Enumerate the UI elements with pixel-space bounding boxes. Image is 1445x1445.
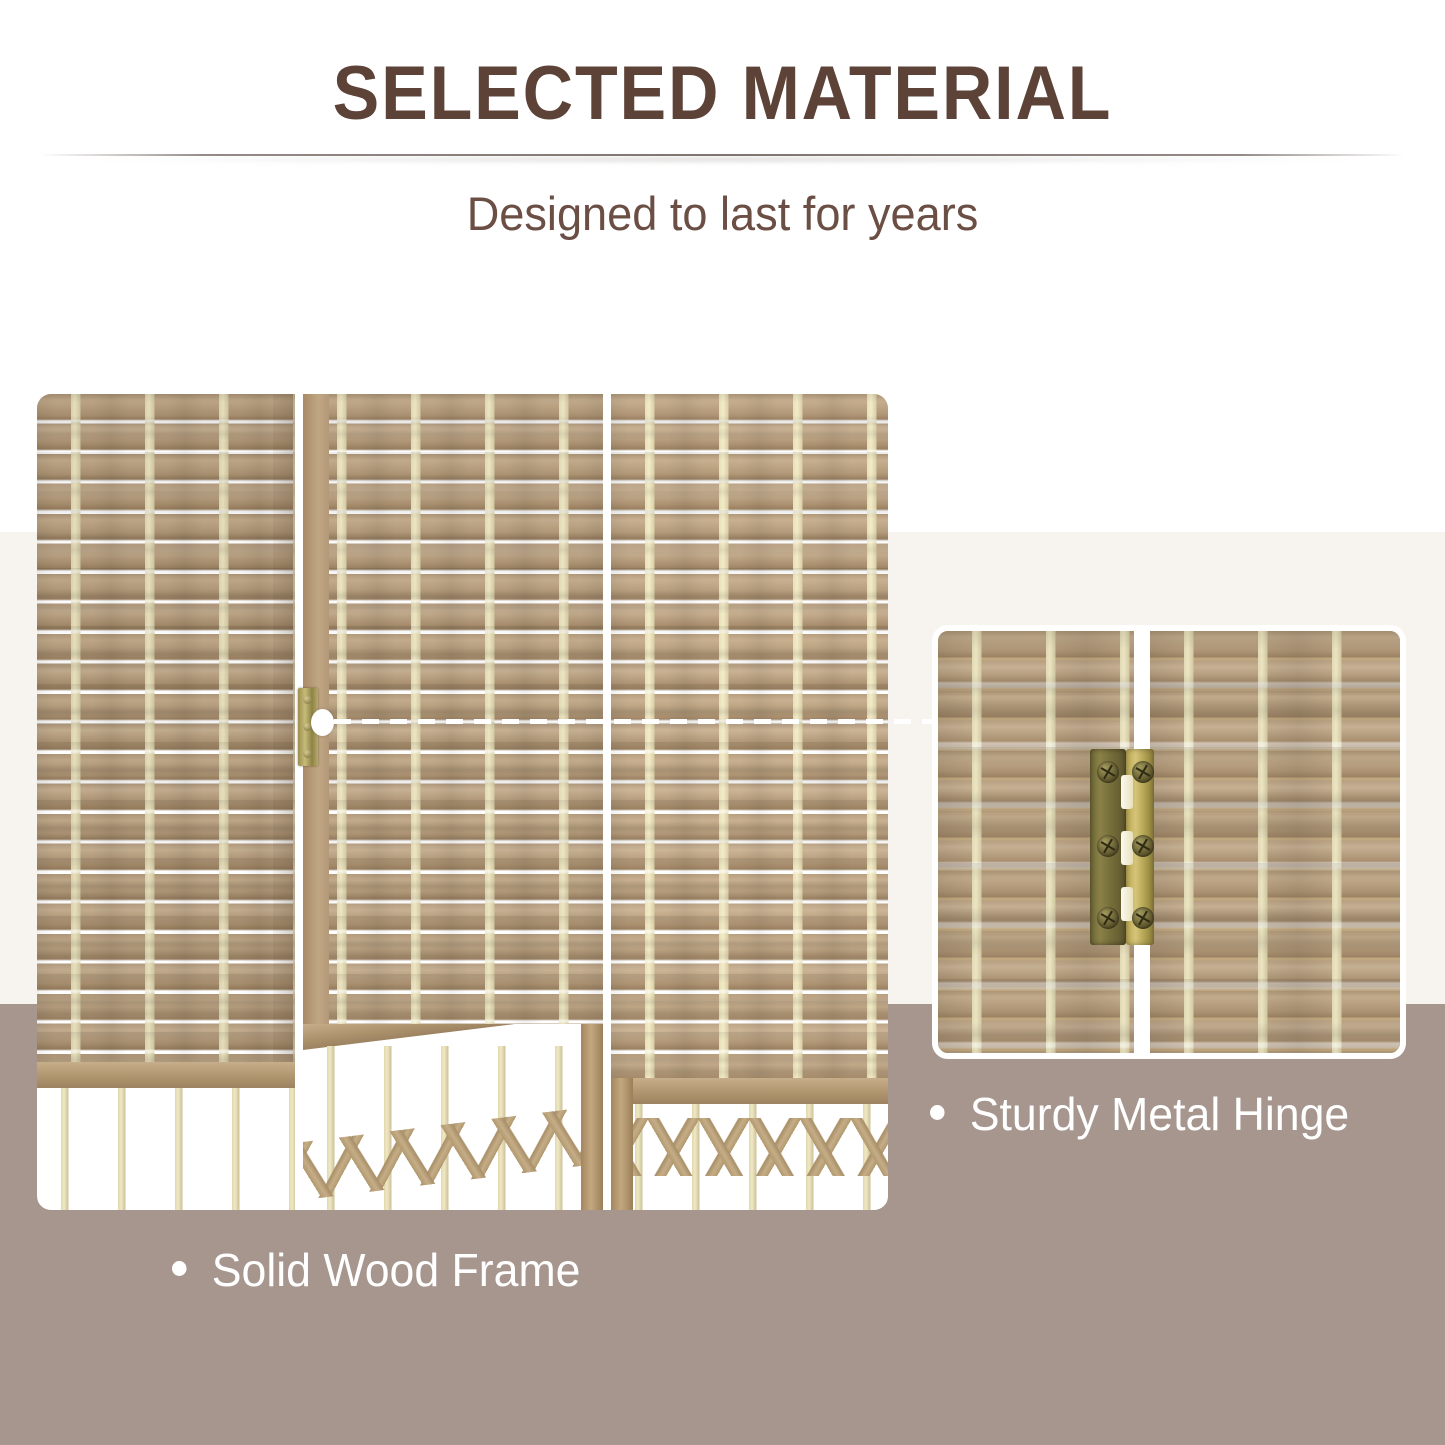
header-divider [0, 152, 1445, 160]
screw-icon [1132, 761, 1154, 783]
page-title: SELECTED MATERIAL [58, 0, 1387, 133]
screw-icon [1097, 761, 1119, 783]
panel-seam-left [295, 394, 303, 1210]
slat-rail [37, 1062, 295, 1088]
page-subtitle: Designed to last for years [29, 186, 1416, 241]
bullet-dot-icon [172, 1261, 187, 1276]
divider-panel-left [37, 394, 295, 1210]
feature-label-hinge: Sturdy Metal Hinge [930, 1087, 1349, 1141]
screw-icon [1132, 907, 1154, 929]
slat-rail [611, 1078, 888, 1104]
screw-icon [1097, 907, 1119, 929]
divider-shadow [90, 156, 1355, 163]
slat-section-right [611, 1078, 888, 1210]
feature-label-frame: Solid Wood Frame [172, 1243, 580, 1297]
hinge-knuckle [1121, 775, 1133, 809]
divider-panel-right [611, 394, 888, 1210]
panel-seam-right [603, 394, 611, 1210]
divider-panel-middle [303, 394, 603, 1210]
screw-icon [303, 695, 312, 704]
closeup-panel-right [1150, 631, 1400, 1053]
infographic-stage: SELECTED MATERIAL Designed to last for y… [0, 0, 1445, 1445]
bullet-dot-icon [930, 1105, 945, 1120]
callout-marker-dot-icon [311, 709, 334, 736]
weave-shading-overlay [1150, 631, 1400, 1053]
slat-section-middle [303, 1024, 603, 1210]
panel-corner-post [611, 1078, 633, 1210]
feature-label-hinge-text: Sturdy Metal Hinge [970, 1088, 1349, 1140]
slat-section-left [37, 1062, 295, 1210]
metal-hinge-closeup [1090, 749, 1154, 945]
product-photo-room-divider [37, 394, 888, 1210]
slat-bars [37, 1088, 295, 1210]
screw-icon [1132, 835, 1154, 857]
screw-icon [1097, 835, 1119, 857]
screw-icon [303, 749, 312, 758]
panel-corner-post [581, 1024, 603, 1210]
feature-label-frame-text: Solid Wood Frame [212, 1244, 581, 1296]
lattice-decoration [611, 1118, 888, 1176]
header-block: SELECTED MATERIAL [0, 0, 1445, 133]
hinge-closeup-callout [932, 625, 1406, 1059]
callout-dashed-connector [334, 719, 934, 724]
